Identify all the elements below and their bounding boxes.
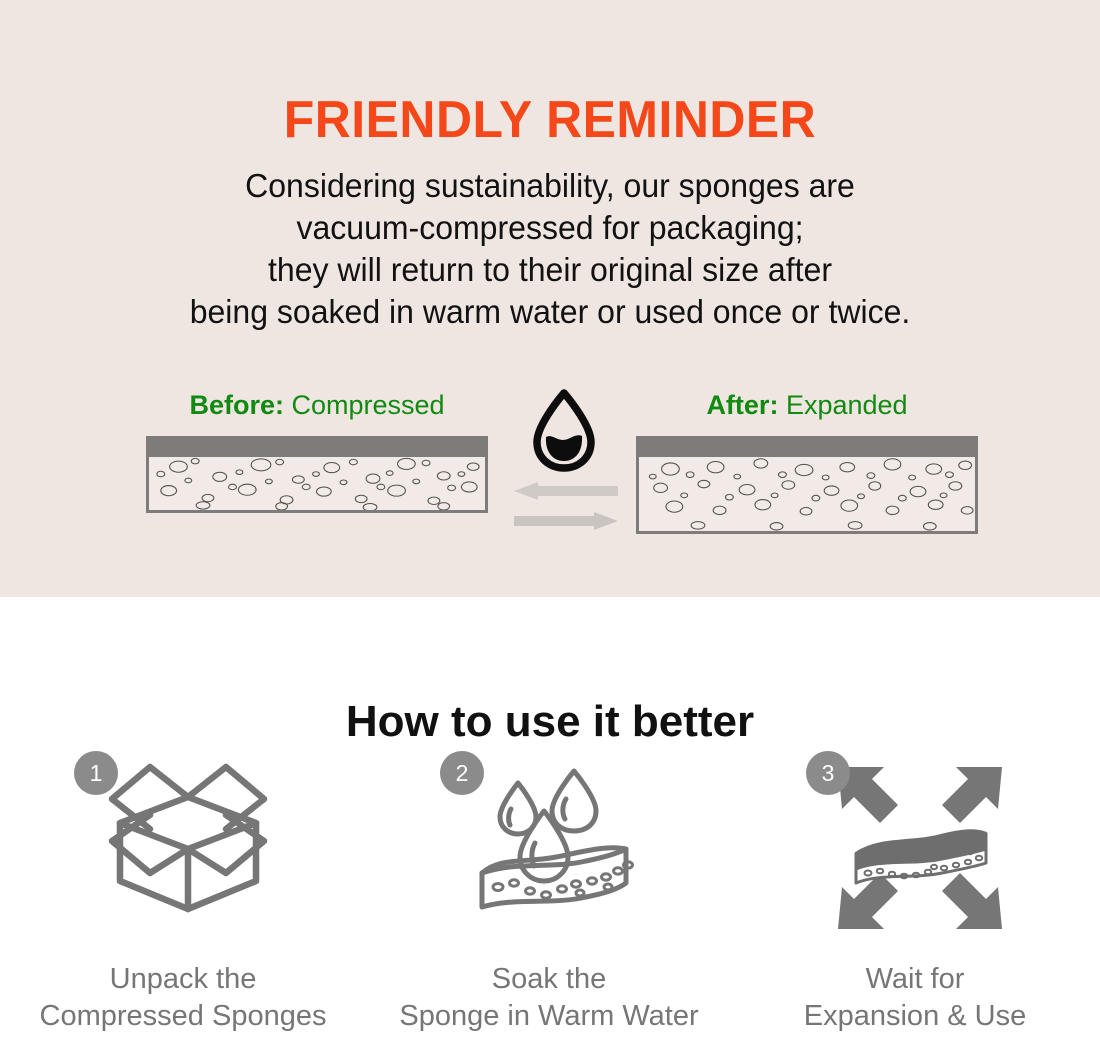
sponge-pores-icon [639,439,975,531]
arrow-down-right-icon [942,873,1002,929]
compressed-sponge-illustration [146,436,488,513]
step-number-badge: 1 [74,751,118,795]
infographic-page: FRIENDLY REMINDER Considering sustainabi… [0,0,1100,1039]
step-caption-line: Expansion & Use [804,998,1026,1035]
after-label-value: Expanded [786,390,908,420]
open-box-icon [90,753,286,943]
step-artwork: 1 [68,747,298,947]
step-caption-line: Sponge in Warm Water [399,998,698,1035]
reminder-body-line: they will return to their original size … [17,249,1084,291]
step-number-badge: 3 [806,751,850,795]
reminder-body-line: vacuum-compressed for packaging; [17,207,1084,249]
step-number-badge: 2 [440,751,484,795]
how-to-use-section: How to use it better 1 [0,597,1100,1039]
reminder-body-line: Considering sustainability, our sponges … [17,165,1084,207]
before-label: Before: Compressed [146,390,488,420]
sponge-pores-icon [149,439,485,510]
friendly-reminder-section: FRIENDLY REMINDER Considering sustainabi… [0,0,1100,597]
step-caption-line: Unpack the [40,961,327,998]
arrow-left-icon [514,482,618,500]
after-label-lead: After: [706,390,778,420]
before-label-lead: Before: [189,390,284,420]
step-item: 2 [366,747,732,1035]
sponge-block-icon [856,831,986,883]
reminder-body-line: being soaked in warm water or used once … [17,291,1084,333]
after-label: After: Expanded [636,390,978,420]
step-caption: Soak the Sponge in Warm Water [399,961,698,1035]
before-column: Before: Compressed [146,390,488,513]
after-column: After: Expanded [636,390,978,534]
before-after-comparison: Before: Compressed [0,390,1100,565]
howto-title: How to use it better [0,697,1100,747]
step-caption-line: Soak the [399,961,698,998]
arrow-up-right-icon [942,767,1002,823]
page-title: FRIENDLY REMINDER [22,90,1078,150]
water-drops-on-sponge-icon [456,753,652,943]
expanded-sponge-illustration [636,436,978,534]
step-item: 3 [732,747,1098,1035]
step-artwork: 2 [434,747,664,947]
arrow-right-icon [514,512,618,530]
expand-arrows-sponge-icon [822,753,1018,943]
reminder-body-text: Considering sustainability, our sponges … [17,165,1084,333]
step-artwork: 3 [800,747,1030,947]
arrow-down-left-icon [838,873,898,929]
step-caption-line: Compressed Sponges [40,998,327,1035]
water-droplet-icon [528,388,600,476]
exchange-arrows-icon [508,482,624,538]
before-label-value: Compressed [291,390,444,420]
steps-list: 1 Unpack the [0,747,1100,1035]
step-caption-line: Wait for [804,961,1026,998]
step-caption: Wait for Expansion & Use [804,961,1026,1035]
transform-indicator [500,390,630,550]
step-caption: Unpack the Compressed Sponges [40,961,327,1035]
step-item: 1 Unpack the [0,747,366,1035]
